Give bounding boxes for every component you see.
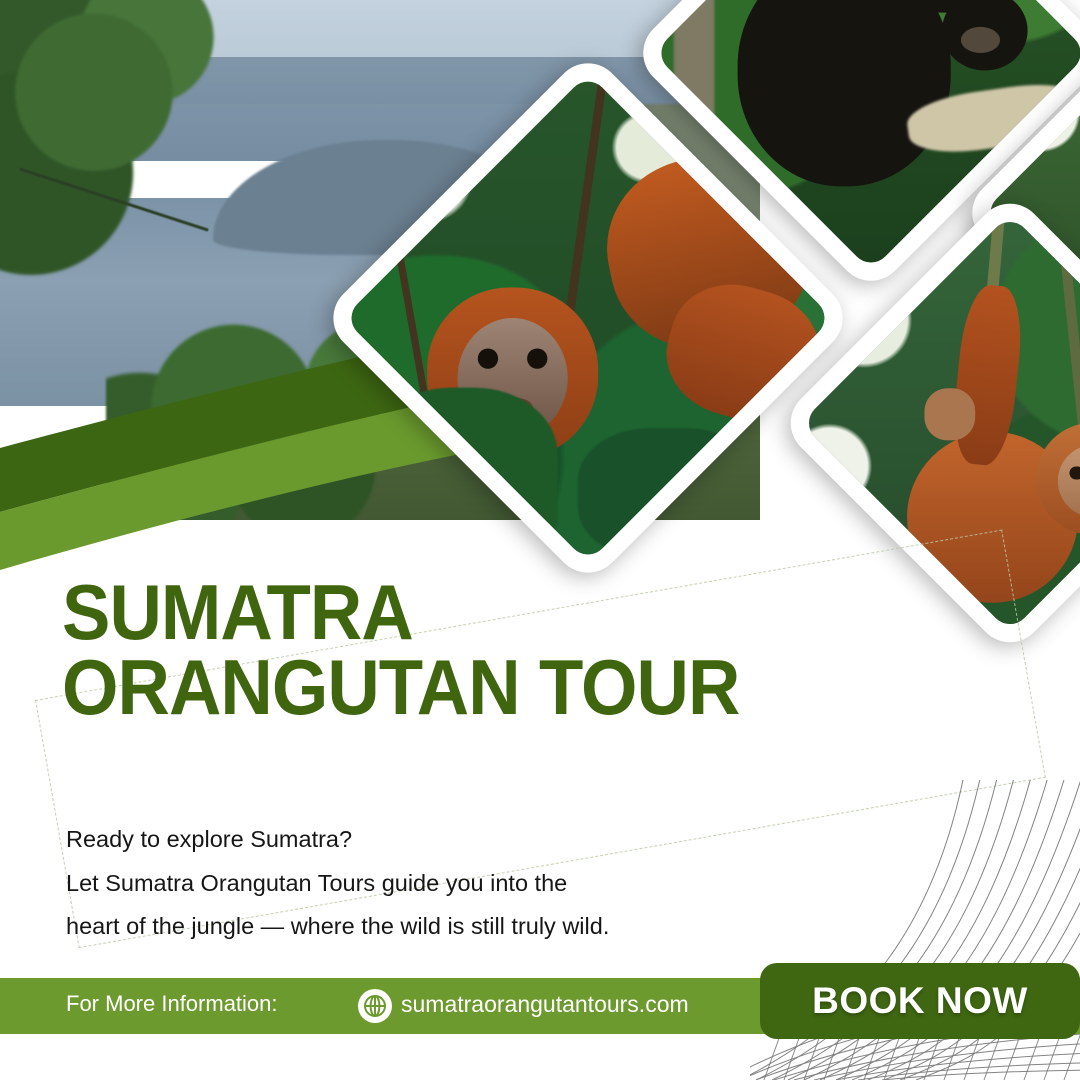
website-url[interactable]: sumatraorangutantours.com bbox=[401, 991, 689, 1018]
body-copy: Ready to explore Sumatra? Let Sumatra Or… bbox=[66, 818, 609, 949]
page-title: SUMATRA ORANGUTAN TOUR bbox=[62, 575, 739, 725]
headline-line-1: SUMATRA bbox=[62, 575, 739, 650]
body-line-2: Let Sumatra Orangutan Tours guide you in… bbox=[66, 862, 609, 906]
body-line-1: Ready to explore Sumatra? bbox=[66, 818, 609, 862]
eye-left bbox=[1070, 466, 1080, 480]
body-line-3: heart of the jungle — where the wild is … bbox=[66, 905, 609, 949]
siamang-face bbox=[960, 26, 1000, 53]
globe-icon bbox=[358, 989, 392, 1023]
eye-right bbox=[528, 348, 548, 368]
foreground-tree-left bbox=[0, 0, 304, 302]
eye-left bbox=[478, 348, 498, 368]
book-now-label: BOOK NOW bbox=[812, 980, 1028, 1022]
headline-line-2: ORANGUTAN TOUR bbox=[62, 650, 739, 725]
baby-orangutan-hand bbox=[924, 389, 975, 440]
siamang-body bbox=[737, 0, 951, 187]
footer-label: For More Information: bbox=[66, 991, 278, 1017]
book-now-button[interactable]: BOOK NOW bbox=[760, 963, 1080, 1039]
poster-canvas: SUMATRA ORANGUTAN TOUR Ready to explore … bbox=[0, 0, 1080, 1080]
